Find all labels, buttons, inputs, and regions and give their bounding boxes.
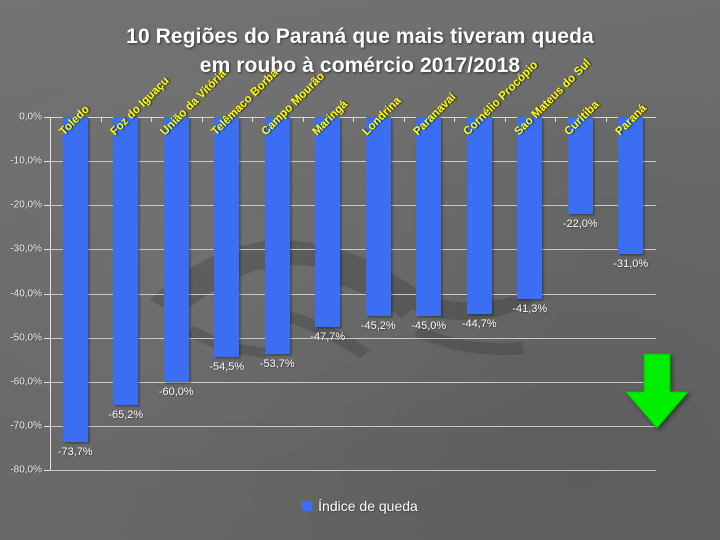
bar[interactable]	[164, 117, 189, 382]
y-axis-label: -50,0%	[10, 332, 42, 343]
y-axis-tick	[44, 426, 50, 427]
bar[interactable]	[618, 117, 643, 254]
bar-value-label: -53,7%	[260, 358, 295, 370]
gridline	[50, 470, 656, 471]
slide-canvas: 10 Regiões do Paraná que mais tiveram qu…	[0, 0, 720, 540]
x-axis-tick	[555, 117, 556, 122]
bar[interactable]	[265, 117, 290, 354]
y-axis-tick	[44, 205, 50, 206]
bar[interactable]	[366, 117, 391, 316]
x-axis-tick	[606, 117, 607, 122]
gridline	[50, 205, 656, 206]
bar[interactable]	[416, 117, 441, 316]
bar-value-label: -73,7%	[58, 446, 93, 458]
bar-value-label: -31,0%	[613, 258, 648, 270]
y-axis-label: -80,0%	[10, 465, 42, 476]
y-axis-label: -70,0%	[10, 420, 42, 431]
bar[interactable]	[517, 117, 542, 299]
bar-value-label: -47,7%	[310, 331, 345, 343]
x-axis-tick	[404, 117, 405, 122]
y-axis-tick	[44, 382, 50, 383]
y-axis-tick	[44, 161, 50, 162]
gridline	[50, 382, 656, 383]
bar-value-label: -22,0%	[563, 218, 598, 230]
y-axis-label: -60,0%	[10, 376, 42, 387]
bar-value-label: -54,5%	[209, 361, 244, 373]
y-axis-tick	[44, 249, 50, 250]
bar[interactable]	[315, 117, 340, 327]
y-axis-tick	[44, 470, 50, 471]
bar[interactable]	[214, 117, 239, 357]
y-axis-label: -30,0%	[10, 244, 42, 255]
bar-value-label: -41,3%	[512, 303, 547, 315]
y-axis-labels: 0,0%-10,0%-20,0%-30,0%-40,0%-50,0%-60,0%…	[0, 0, 46, 540]
x-axis-tick	[151, 117, 152, 122]
gridline	[50, 249, 656, 250]
bar-value-label: -60,0%	[159, 386, 194, 398]
y-axis-label: 0,0%	[19, 112, 42, 123]
legend-swatch	[302, 501, 312, 511]
bar-value-label: -65,2%	[108, 409, 143, 421]
chart-title: 10 Regiões do Paraná que mais tiveram qu…	[0, 22, 720, 80]
x-axis-tick	[252, 117, 253, 122]
x-axis-tick	[202, 117, 203, 122]
y-axis-tick	[44, 117, 50, 118]
x-axis-tick	[101, 117, 102, 122]
bar[interactable]	[467, 117, 492, 314]
down-arrow-icon	[622, 352, 692, 430]
plot-area: -73,7%Toledo-65,2%Foz do Iguaçu-60,0%Uni…	[50, 117, 656, 470]
x-axis-tick	[353, 117, 354, 122]
y-axis-label: -40,0%	[10, 288, 42, 299]
y-axis-tick	[44, 294, 50, 295]
bar-value-label: -45,2%	[361, 320, 396, 332]
x-axis-tick	[505, 117, 506, 122]
x-axis-tick	[454, 117, 455, 122]
legend: Índice de queda	[0, 498, 720, 514]
y-axis-label: -20,0%	[10, 200, 42, 211]
bar[interactable]	[63, 117, 88, 442]
bar[interactable]	[113, 117, 138, 405]
gridline	[50, 294, 656, 295]
bar-value-label: -45,0%	[411, 320, 446, 332]
y-axis-tick	[44, 338, 50, 339]
legend-label: Índice de queda	[318, 498, 418, 514]
gridline	[50, 426, 656, 427]
x-axis-tick	[303, 117, 304, 122]
bar[interactable]	[568, 117, 593, 214]
gridline	[50, 338, 656, 339]
y-axis-label: -10,0%	[10, 156, 42, 167]
bar-value-label: -44,7%	[462, 318, 497, 330]
gridline	[50, 161, 656, 162]
